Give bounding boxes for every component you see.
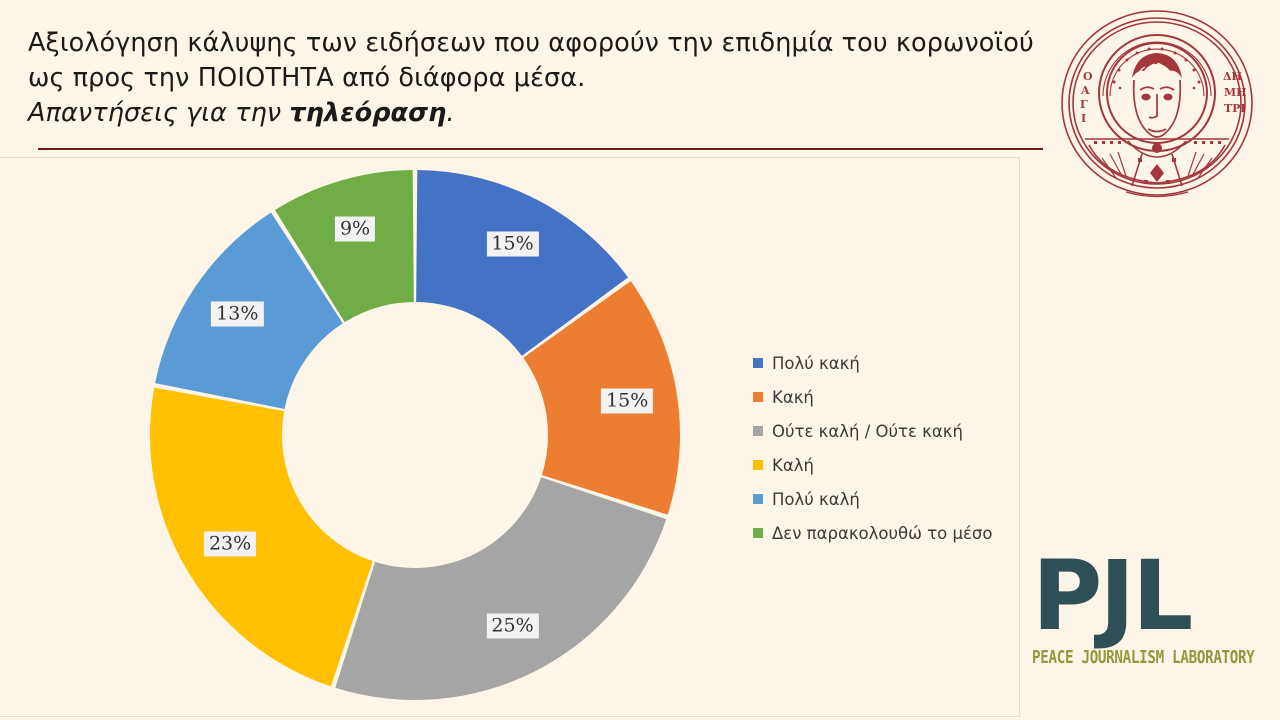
- svg-text:Ο: Ο: [1083, 70, 1093, 83]
- title-line-3: Απαντήσεις για την τηλεόραση.: [28, 96, 1058, 131]
- auth-university-seal-icon: ΟΑ ΓΙ ΔΗΜΗ ΤΡΙ: [1058, 8, 1256, 198]
- legend-item-label: Πολύ καλή: [772, 490, 860, 509]
- legend-item[interactable]: Κακή: [753, 380, 1023, 414]
- legend-item-label: Πολύ κακή: [772, 354, 860, 373]
- doughnut-svg: [145, 165, 685, 705]
- title-line-2-suffix: από διάφορα μέσα.: [334, 63, 585, 93]
- doughnut-slice[interactable]: [335, 477, 666, 700]
- chart-legend: Πολύ κακήΚακήΟύτε καλή / Ούτε κακήΚαλήΠο…: [753, 346, 1023, 550]
- legend-item[interactable]: Ούτε καλή / Ούτε κακή: [753, 414, 1023, 448]
- title-line-1: Αξιολόγηση κάλυψης των ειδήσεων που αφορ…: [28, 26, 1058, 61]
- pjl-logo-mark: PJL: [1032, 548, 1247, 644]
- svg-text:Γ: Γ: [1080, 98, 1088, 111]
- chart-plot-area: 15%15%25%23%13%9% Πολύ κακήΚακήΟύτε καλή…: [0, 157, 1020, 717]
- svg-text:ΔΗ: ΔΗ: [1223, 70, 1242, 83]
- legend-item[interactable]: Πολύ κακή: [753, 346, 1023, 380]
- legend-item[interactable]: Δεν παρακολουθώ το μέσο: [753, 516, 1023, 550]
- doughnut-slice-label: 25%: [486, 614, 538, 639]
- legend-item-label: Δεν παρακολουθώ το μέσο: [772, 524, 992, 543]
- legend-item-label: Ούτε καλή / Ούτε κακή: [772, 422, 963, 441]
- doughnut-slice-label: 13%: [211, 302, 263, 327]
- title-line-3-prefix: Απαντήσεις για την: [28, 98, 289, 128]
- title-keyword-quality: ΠΟΙΟΤΗΤΑ: [198, 63, 334, 93]
- title-line-2-prefix: ως προς την: [28, 63, 198, 93]
- legend-color-swatch-icon: [753, 460, 763, 470]
- doughnut-slice[interactable]: [150, 388, 373, 687]
- svg-text:Α: Α: [1080, 84, 1090, 97]
- legend-item-label: Καλή: [772, 456, 814, 475]
- slide-title: Αξιολόγηση κάλυψης των ειδήσεων που αφορ…: [28, 26, 1058, 131]
- legend-color-swatch-icon: [753, 392, 763, 402]
- svg-text:ΤΡΙ: ΤΡΙ: [1224, 102, 1246, 115]
- doughnut-slice-label: 15%: [601, 389, 653, 414]
- doughnut-slice-label: 15%: [486, 231, 538, 256]
- pjl-logo-subtitle: PEACE JOURNALISM LABORATORY: [1032, 648, 1247, 668]
- title-line-3-suffix: .: [446, 98, 454, 128]
- legend-color-swatch-icon: [753, 528, 763, 538]
- title-keyword-television: τηλεόραση: [289, 98, 446, 128]
- title-line-2: ως προς την ΠΟΙΟΤΗΤΑ από διάφορα μέσα.: [28, 61, 1058, 96]
- legend-item[interactable]: Πολύ καλή: [753, 482, 1023, 516]
- pjl-logo: PJL PEACE JOURNALISM LABORATORY: [1032, 548, 1247, 680]
- doughnut-slice-label: 9%: [335, 216, 375, 241]
- title-divider: [38, 148, 1043, 150]
- legend-color-swatch-icon: [753, 426, 763, 436]
- legend-color-swatch-icon: [753, 494, 763, 504]
- legend-color-swatch-icon: [753, 358, 763, 368]
- svg-text:Ι: Ι: [1081, 112, 1086, 125]
- legend-item-label: Κακή: [772, 388, 814, 407]
- svg-text:ΜΗ: ΜΗ: [1224, 86, 1247, 99]
- doughnut-chart: 15%15%25%23%13%9%: [145, 165, 685, 705]
- doughnut-slice-label: 23%: [204, 532, 256, 557]
- legend-item[interactable]: Καλή: [753, 448, 1023, 482]
